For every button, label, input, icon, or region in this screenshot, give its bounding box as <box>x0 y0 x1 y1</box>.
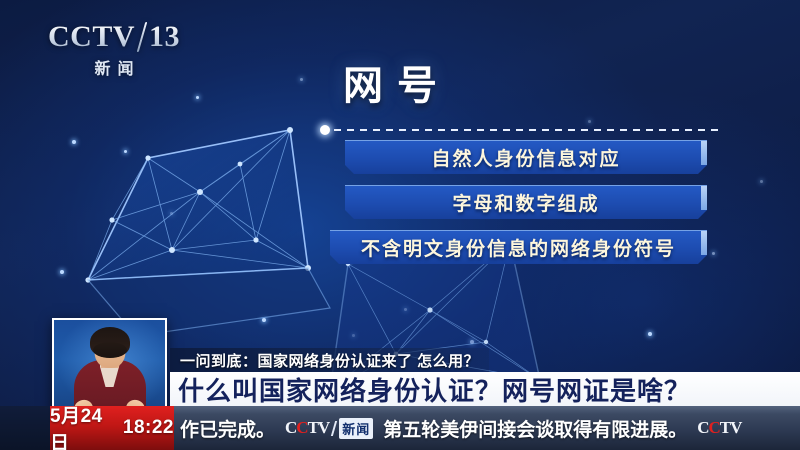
info-box-label: 不含明文身份信息的网络身份符号 <box>361 234 676 261</box>
ticker-logo-cctv-text: CCTV <box>285 418 329 438</box>
channel-logo-sub: 新闻 <box>48 55 180 79</box>
channel-logo-main: CCTV 13 <box>48 22 180 52</box>
ticker-cctv-news-logo: CCTV 新闻 <box>285 418 373 439</box>
main-headline-banner: 什么叫国家网络身份认证？网号网证是啥？ <box>170 372 800 406</box>
ticker-logo-cctv-text: CCTV <box>697 418 741 438</box>
title-divider <box>320 125 720 135</box>
ticker-logo-tv: TV <box>308 418 330 437</box>
ticker-logo-c2: C <box>709 418 720 437</box>
ticker-logo-c1: C <box>697 418 708 437</box>
ticker-logo-c2: C <box>296 418 307 437</box>
info-box-accent-edge <box>701 141 707 165</box>
sub-headline-banner: 一问到底：国家网络身份认证来了 怎么用？ <box>170 348 489 372</box>
ticker-date-text: 5月24日 <box>50 401 116 450</box>
info-box-accent-edge <box>701 186 707 210</box>
ticker-time-text: 18:22 <box>123 417 174 439</box>
divider-dot-icon <box>320 125 330 135</box>
channel-logo-slash <box>137 22 148 52</box>
ticker-segment: 作已完成。 <box>180 415 275 442</box>
ticker-logo-slash <box>331 421 337 436</box>
channel-logo-number: 13 <box>149 22 180 52</box>
ticker-datetime: 5月24日 18:22 <box>50 406 174 450</box>
info-box: 自然人身份信息对应 <box>345 140 707 174</box>
sub-headline-text: 一问到底：国家网络身份认证来了 怎么用？ <box>180 350 479 371</box>
anchor-hair <box>90 327 130 357</box>
broadcast-screen: CCTV 13 新闻 网号 自然人身份信息对应 字母和数字组成 不含明文身份信息… <box>0 0 800 450</box>
ticker-segment: 第五轮美伊间接会谈取得有限进展。 <box>383 415 687 442</box>
ticker-cctv-news-logo: CCTV <box>697 418 741 438</box>
channel-logo: CCTV 13 新闻 <box>48 22 180 79</box>
ticker-logo-news-text: 新闻 <box>339 418 373 439</box>
ticker-logo-tv: TV <box>720 418 742 437</box>
ticker-scrolling-text: 作已完成。 CCTV 新闻 第五轮美伊间接会谈取得有限进展。 CCTV <box>174 406 800 450</box>
news-ticker-bar: 5月24日 18:22 作已完成。 CCTV 新闻 第五轮美伊间接会谈取得有限进… <box>0 406 800 450</box>
channel-logo-cctv-text: CCTV <box>48 22 135 52</box>
ticker-left-spacer <box>0 406 50 450</box>
divider-dashed-line <box>334 129 720 131</box>
ticker-logo-c1: C <box>285 418 296 437</box>
info-box: 不含明文身份信息的网络身份符号 <box>330 230 707 264</box>
main-headline-text: 什么叫国家网络身份认证？网号网证是啥？ <box>178 371 691 408</box>
info-box-label: 字母和数字组成 <box>452 189 599 216</box>
info-box-label: 自然人身份信息对应 <box>431 144 620 171</box>
info-box-accent-edge <box>701 231 707 255</box>
info-box: 字母和数字组成 <box>345 185 707 219</box>
topic-title: 网号 <box>343 66 451 106</box>
info-box-list: 自然人身份信息对应 字母和数字组成 不含明文身份信息的网络身份符号 <box>0 140 800 275</box>
